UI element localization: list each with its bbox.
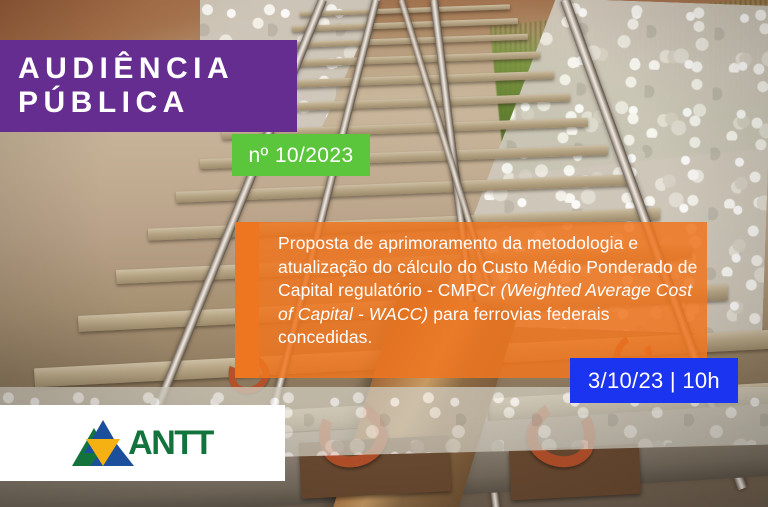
number-badge-label: nº 10/2023 — [248, 145, 353, 166]
description-accent-bar — [235, 222, 259, 378]
headline-line-1: AUDIÊNCIA — [18, 52, 297, 86]
date-badge: 3/10/23 | 10h — [570, 358, 738, 403]
sleeper — [282, 34, 528, 49]
headline-line-2: PÚBLICA — [18, 86, 297, 120]
headline-banner: AUDIÊNCIA PÚBLICA — [0, 40, 297, 132]
logo-bar: ANTT — [0, 405, 285, 481]
number-badge: nº 10/2023 — [232, 134, 370, 176]
description-block: Proposta de aprimoramento da metodologia… — [235, 222, 707, 378]
date-badge-label: 3/10/23 | 10h — [588, 370, 720, 392]
antt-logo: ANTT — [72, 420, 213, 466]
sleeper — [270, 51, 540, 67]
antt-triangle-mark — [72, 420, 134, 466]
audiencia-publica-poster: AUDIÊNCIA PÚBLICA nº 10/2023 Proposta de… — [0, 0, 768, 507]
sleeper — [256, 71, 554, 89]
description-text: Proposta de aprimoramento da metodologia… — [278, 232, 699, 350]
antt-wordmark: ANTT — [128, 426, 213, 460]
